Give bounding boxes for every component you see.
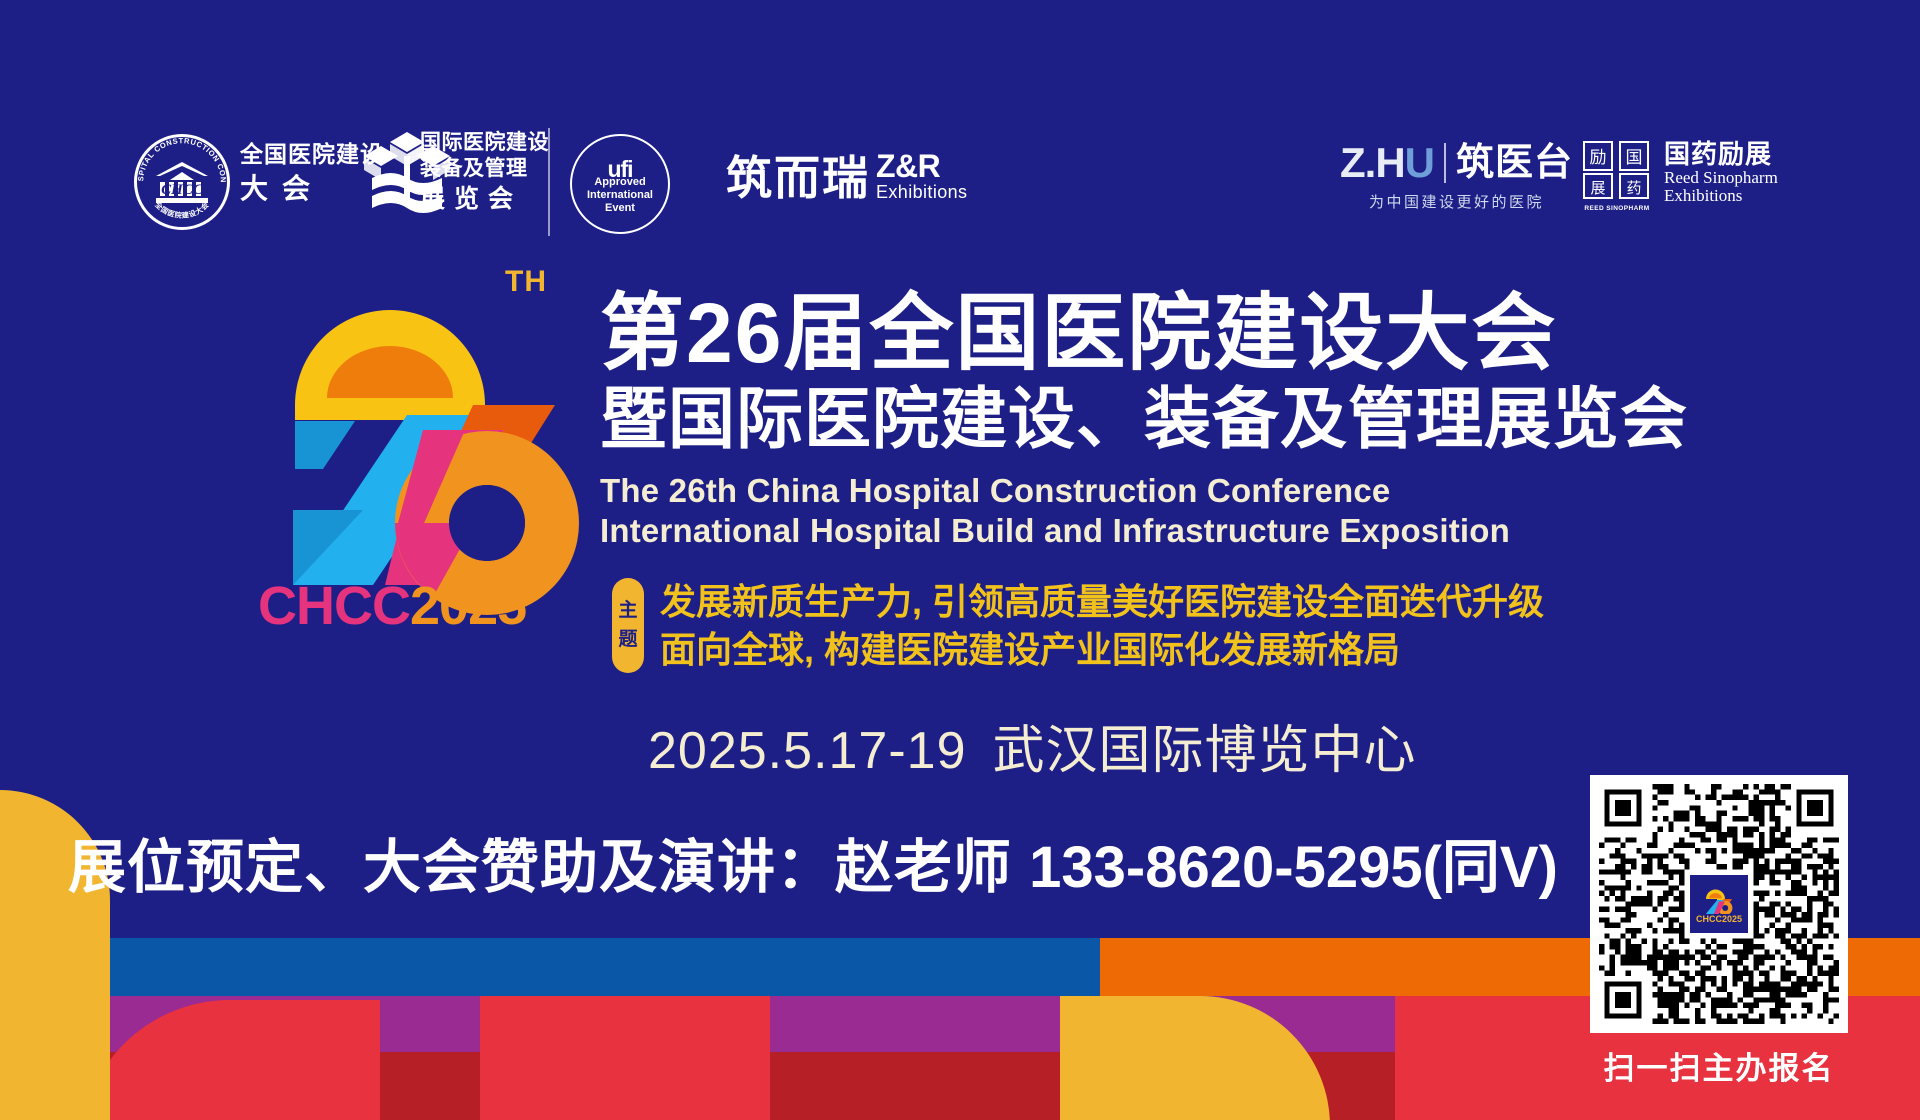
page-title-cn-primary: 第26届全国医院建设大会 (600, 290, 1890, 377)
page-title-cn-secondary: 暨国际医院建设、装备及管理展览会 (600, 383, 1890, 457)
zr-logo-en-top: Z&R (876, 150, 967, 182)
zr-logo-en-bottom: Exhibitions (876, 183, 967, 201)
zr-exhibitions-logo: 筑而瑞 Z&R Exhibitions (726, 150, 967, 201)
exhibition-label-line3: 展览会 (420, 184, 549, 215)
chcc2025-wordmark-chcc: CHCC (258, 576, 410, 636)
ufi-line1: Approved (570, 176, 670, 189)
theme-line-2: 面向全球, 构建医院建设产业国际化发展新格局 (660, 626, 1544, 674)
exhibition-label-line2: 装备及管理 (420, 156, 549, 182)
zhuyitai-logo: Z. H U 筑医台 为中国建设更好的医院 (1340, 142, 1573, 212)
chcc2025-wordmark-year: 2025 (410, 576, 526, 636)
reed-logo-cn: 国药励展 (1664, 140, 1778, 169)
zhu-logo-cn: 筑医台 (1456, 144, 1573, 182)
reed-sinopharm-mark-icon: 励 国 展 药 REED SINOPHARM (1580, 136, 1654, 210)
reed-mark-caption: REED SINOPHARM (1580, 205, 1654, 212)
theme-badge: 主 题 (612, 578, 644, 673)
qr-center-label: CHCC2025 (1696, 914, 1742, 924)
svg-text:展: 展 (1590, 181, 1605, 197)
exhibition-label-line1: 国际医院建设 (420, 130, 549, 156)
contact-prefix: 展位预定、大会赞助及演讲：赵老师 (68, 835, 1012, 900)
event-venue: 武汉国际博览中心 (993, 722, 1417, 780)
logo-divider (548, 128, 550, 236)
red-semicircle-shape (480, 996, 770, 1120)
theme-badge-char1: 主 (618, 597, 637, 626)
exhibition-label: 国际医院建设 装备及管理 展览会 (420, 130, 549, 215)
ufi-approved-icon: ufi Approved International Event (570, 134, 670, 234)
reed-logo-en2: Exhibitions (1664, 187, 1778, 206)
band-blue (0, 938, 1100, 996)
ufi-line3: Event (570, 202, 670, 215)
partner-logo-bar: CHINA HOSPITAL CONSTRUCTION CONFERENCE 全… (0, 58, 1920, 178)
qr-caption: 扫一扫主办报名 (1590, 1043, 1848, 1088)
event-date-venue: 2025.5.17-19武汉国际博览中心 (648, 708, 1417, 783)
svg-text:CHCC: CHCC (161, 182, 204, 198)
zhu-logo-divider (1444, 143, 1446, 183)
chcc-seal-icon: CHINA HOSPITAL CONSTRUCTION CONFERENCE 全… (134, 134, 230, 230)
chcc2025-wordmark: CHCC2025 (258, 575, 526, 637)
qr-registration-block[interactable]: CHCC2025 扫一扫主办报名 (1590, 775, 1890, 1088)
zhu-logo-tagline: 为中国建设更好的医院 (1340, 191, 1573, 212)
page-title-en-primary: The 26th China Hospital Construction Con… (600, 471, 1890, 511)
logo-superscript-th: TH (505, 265, 547, 299)
reed-sinopharm-logo: 励 国 展 药 REED SINOPHARM 国药励展 Reed Sinopha… (1580, 136, 1778, 210)
title-block: 第26届全国医院建设大会 暨国际医院建设、装备及管理展览会 The 26th C… (600, 290, 1890, 552)
theme-badge-char2: 题 (618, 626, 637, 655)
page-title-en-secondary: International Hospital Build and Infrast… (600, 511, 1890, 551)
theme-line-1: 发展新质生产力, 引领高质量美好医院建设全面迭代升级 (660, 578, 1544, 626)
theme-section: 主 题 发展新质生产力, 引领高质量美好医院建设全面迭代升级 面向全球, 构建医… (612, 578, 1544, 673)
zhu-logo-z: Z. (1340, 142, 1375, 184)
contact-line: 展位预定、大会赞助及演讲：赵老师 133-8620-5295(同V) (68, 820, 1558, 904)
svg-text:药: 药 (1626, 180, 1641, 197)
reed-logo-en1: Reed Sinopharm (1664, 169, 1778, 188)
ufi-line2: International (570, 189, 670, 202)
svg-text:励: 励 (1590, 148, 1607, 167)
qr-code-image[interactable]: CHCC2025 (1590, 775, 1848, 1033)
zhu-logo-h: H (1375, 142, 1404, 184)
zhu-logo-u: U (1405, 142, 1434, 184)
contact-phone[interactable]: 133-8620-5295(同V) (1029, 835, 1558, 900)
svg-text:国: 国 (1626, 148, 1643, 167)
promotional-banner: CHINA HOSPITAL CONSTRUCTION CONFERENCE 全… (0, 0, 1920, 1120)
event-date: 2025.5.17-19 (648, 722, 967, 780)
zr-logo-cn: 筑而瑞 (726, 155, 870, 201)
qr-center-logo-icon: CHCC2025 (1688, 873, 1750, 935)
